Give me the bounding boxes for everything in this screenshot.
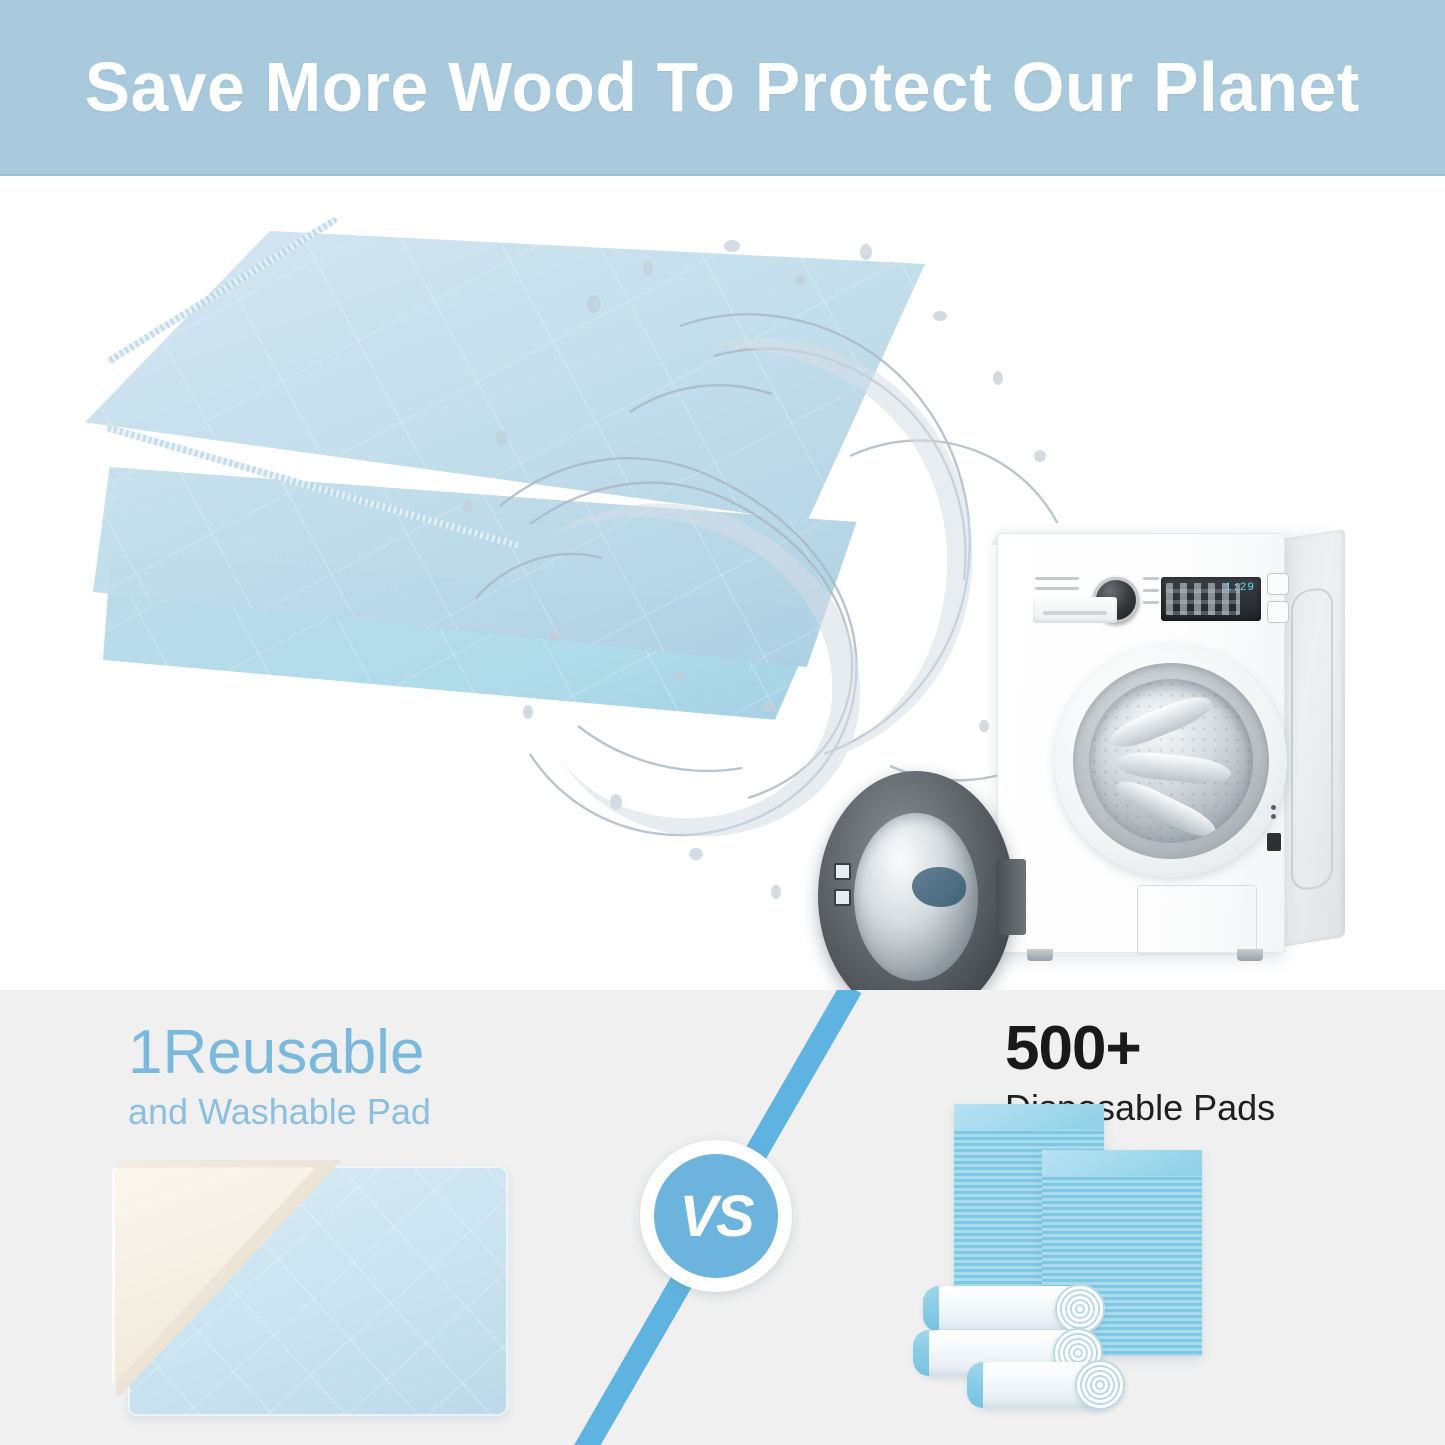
rolled-pad [968, 1362, 1116, 1408]
banner-headline: Save More Wood To Protect Our Planet [85, 47, 1360, 127]
disposable-pads-image [912, 1090, 1282, 1430]
door-latch-indicator [1271, 805, 1276, 810]
washer-side-recess [1291, 586, 1333, 893]
program-label [1143, 601, 1159, 604]
program-label [1143, 577, 1159, 580]
door-clip [834, 863, 851, 880]
door-glass [854, 813, 978, 981]
stack-top-face [954, 1104, 1104, 1130]
porthole-ring [1073, 663, 1269, 859]
comparison-right: 500+ Disposable Pads [820, 990, 1445, 1445]
comparison-left: 1Reusable and Washable Pad [0, 990, 620, 1445]
disposable-headline: 500+ [1005, 1018, 1141, 1080]
washer-porthole [1055, 645, 1287, 877]
washer-power-button[interactable] [1267, 573, 1289, 595]
detergent-drawer[interactable] [1033, 597, 1117, 623]
product-infographic: Save More Wood To Protect Our Planet [0, 0, 1445, 1445]
stack-top-face [1042, 1150, 1202, 1176]
program-label [1035, 577, 1079, 580]
door-hinge [996, 859, 1026, 935]
program-label [1035, 587, 1079, 590]
hero-section: 1:29 [0, 176, 1445, 990]
reusable-subline: and Washable Pad [128, 1094, 431, 1130]
folded-reusable-pad-image [75, 231, 955, 751]
header-banner: Save More Wood To Protect Our Planet [0, 0, 1445, 176]
door-ring [818, 771, 1014, 990]
washer-time-display: 1:29 [1225, 582, 1255, 594]
vs-label: VS [679, 1183, 752, 1250]
program-label [1143, 589, 1159, 592]
washer-base-panel [1137, 885, 1257, 955]
door-glass-reflection [912, 867, 966, 907]
roll-spiral-end [1075, 1360, 1125, 1410]
vs-badge-circle: VS [654, 1154, 778, 1278]
vs-badge: VS [640, 1140, 792, 1292]
reusable-pad-image [108, 1158, 518, 1426]
washer-door-open[interactable] [818, 771, 1028, 990]
rolled-pad [924, 1286, 1096, 1332]
door-clip [834, 889, 851, 906]
washer-foot [1237, 949, 1263, 961]
washing-machine-image: 1:29 [975, 511, 1355, 981]
washer-display-screen: 1:29 [1161, 577, 1261, 621]
washer-start-button[interactable] [1267, 601, 1289, 623]
roll-spiral-end [1055, 1284, 1105, 1334]
reusable-headline: 1Reusable [128, 1022, 424, 1084]
door-latch [1267, 833, 1281, 851]
washer-foot [1027, 949, 1053, 961]
washer-drum [1089, 679, 1253, 843]
washer-front-body: 1:29 [997, 533, 1285, 953]
